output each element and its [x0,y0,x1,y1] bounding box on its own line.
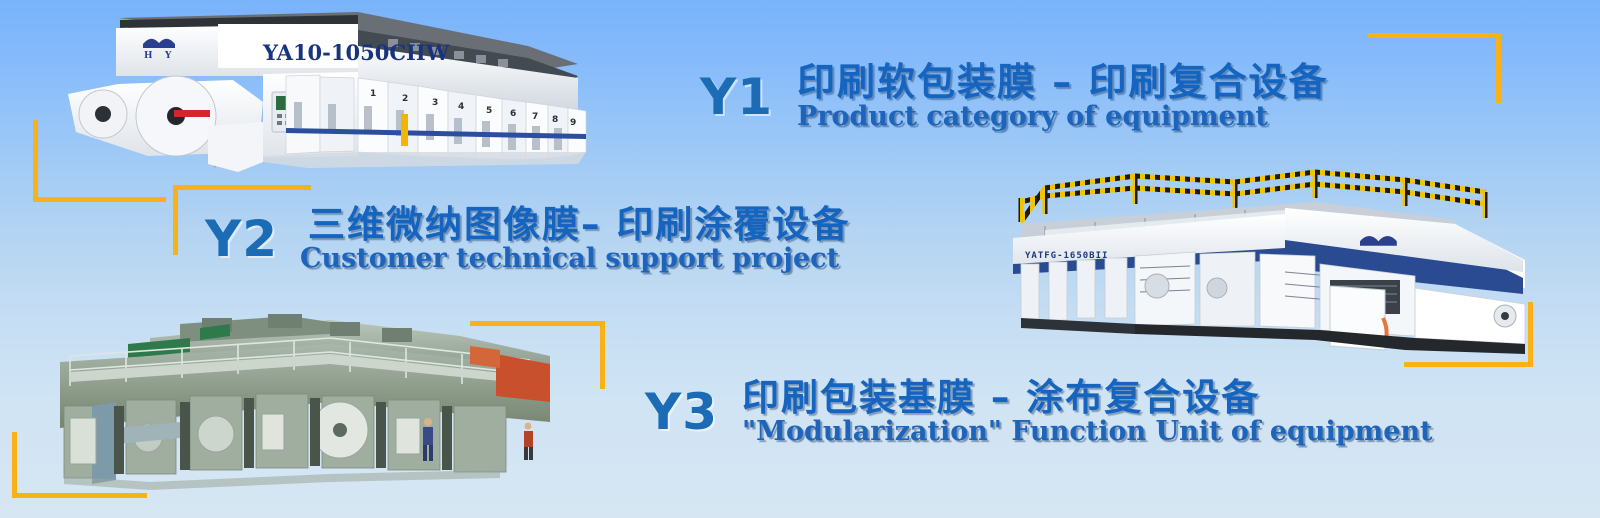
svg-text:9: 9 [570,118,576,128]
machine-model-label-printing: YA10-1050CIIW [262,40,450,65]
machine-model-label-coating: YATFG-1650BII [1025,251,1108,261]
entry-y2-headings: 三维微纳图像膜– 印刷涂覆设备 Customer technical suppo… [308,205,850,273]
svg-text:4: 4 [458,102,464,112]
entry-y3-headings: 印刷包装基膜 – 涂布复合设备 "Modularization" Functio… [742,378,1433,446]
bracket-top-right-vertical [1496,33,1501,103]
operator-figure-2 [524,423,533,461]
svg-text:8: 8 [552,115,558,125]
entry-y2-title-en: Customer technical support project [300,245,850,273]
bracket-y3-vertical [600,321,605,389]
entry-y1-title-en: Product category of equipment [797,103,1328,131]
svg-text:Y: Y [164,51,172,61]
svg-text:2: 2 [402,94,408,104]
svg-text:3: 3 [432,98,438,108]
machine-image-coating-line: YATFG-1650BII [985,168,1530,363]
svg-text:7: 7 [532,112,538,122]
bracket-top-right-horizontal [1368,33,1501,38]
svg-text:1: 1 [370,89,376,99]
entry-y1-code: Y1 [700,72,773,122]
bracket-y2-vertical [173,185,178,255]
entry-y2-title-cn: 三维微纳图像膜– 印刷涂覆设备 [308,205,850,245]
entry-y1-headings: 印刷软包装膜 – 印刷复合设备 Product category of equi… [797,62,1328,131]
equipment-banner: 123 456 789 H Y YA10-1050CIIW [0,0,1600,518]
svg-text:5: 5 [486,106,492,116]
entry-y1: Y1 印刷软包装膜 – 印刷复合设备 Product category of e… [700,62,1328,131]
entry-y3-code: Y3 [645,387,718,437]
bracket-bottom-left-vertical [12,432,17,498]
bracket-top-left-vertical [33,120,38,202]
bracket-bottom-left-horizontal [12,493,147,498]
entry-y1-title-cn: 印刷软包装膜 – 印刷复合设备 [797,62,1328,103]
entry-y2: Y2 三维微纳图像膜– 印刷涂覆设备 Customer technical su… [205,205,850,273]
machine-image-base-film-line [30,310,575,490]
entry-y3-title-en: "Modularization" Function Unit of equipm… [742,418,1433,446]
machine-image-printing-press: 123 456 789 H Y YA10-1050CIIW [58,6,618,176]
bracket-y2-horizontal [173,185,311,190]
bracket-bottom-right-horizontal [1404,362,1533,367]
entry-y2-code: Y2 [205,214,278,264]
bracket-bottom-right-vertical [1528,302,1533,367]
svg-text:H: H [144,51,153,61]
entry-y3-title-cn: 印刷包装基膜 – 涂布复合设备 [742,378,1433,418]
bracket-y3-horizontal [470,321,605,326]
bracket-top-left-horizontal [33,197,166,202]
entry-y3: Y3 印刷包装基膜 – 涂布复合设备 "Modularization" Func… [645,378,1433,446]
svg-text:6: 6 [510,109,516,119]
